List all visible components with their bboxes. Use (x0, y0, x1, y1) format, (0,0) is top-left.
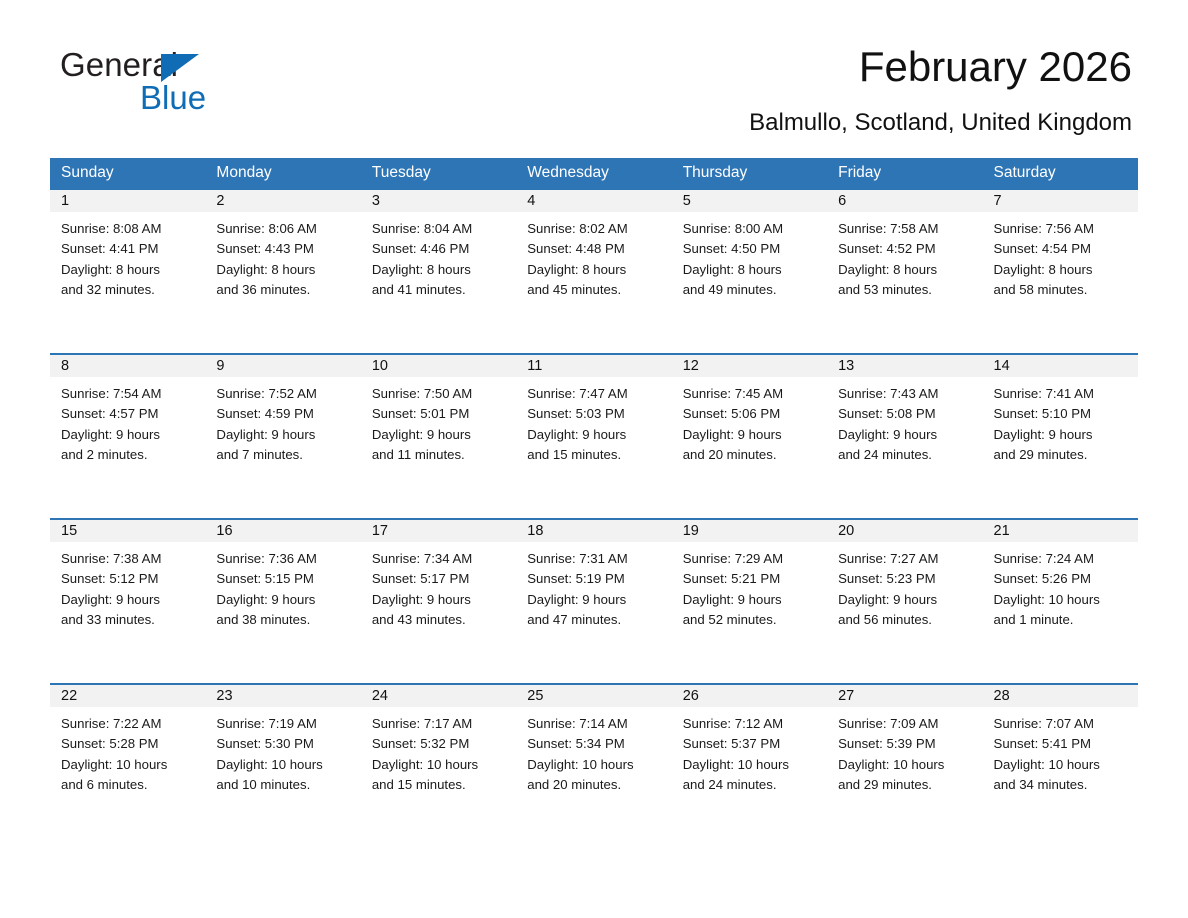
daylight-line2: and 7 minutes. (216, 445, 352, 465)
day-number-band: 5 (672, 190, 827, 212)
day-number: 6 (827, 190, 982, 212)
daylight-line1: Daylight: 10 hours (61, 755, 197, 775)
day-number-band: 13 (827, 355, 982, 377)
daylight-line1: Daylight: 10 hours (216, 755, 352, 775)
day-cell[interactable]: 22 Sunrise: 7:22 AM Sunset: 5:28 PM Dayl… (50, 685, 205, 795)
sunrise-text: Sunrise: 8:00 AM (683, 219, 819, 239)
weekday-header-wednesday: Wednesday (516, 158, 671, 188)
day-cell[interactable]: 23 Sunrise: 7:19 AM Sunset: 5:30 PM Dayl… (205, 685, 360, 795)
weekday-header-monday: Monday (205, 158, 360, 188)
day-cell[interactable]: 28 Sunrise: 7:07 AM Sunset: 5:41 PM Dayl… (983, 685, 1138, 795)
sunset-text: Sunset: 5:37 PM (683, 734, 819, 754)
daylight-line2: and 29 minutes. (994, 445, 1130, 465)
day-number-band: 10 (361, 355, 516, 377)
day-cell[interactable]: 13 Sunrise: 7:43 AM Sunset: 5:08 PM Dayl… (827, 355, 982, 518)
weekday-header-thursday: Thursday (672, 158, 827, 188)
sunrise-text: Sunrise: 7:34 AM (372, 549, 508, 569)
day-details: Sunrise: 7:17 AM Sunset: 5:32 PM Dayligh… (361, 707, 516, 795)
weekday-header-saturday: Saturday (983, 158, 1138, 188)
sunset-text: Sunset: 4:50 PM (683, 239, 819, 259)
day-number: 16 (205, 520, 360, 542)
weekday-header-sunday: Sunday (50, 158, 205, 188)
day-details: Sunrise: 7:50 AM Sunset: 5:01 PM Dayligh… (361, 377, 516, 465)
daylight-line2: and 15 minutes. (372, 775, 508, 795)
sunset-text: Sunset: 4:43 PM (216, 239, 352, 259)
day-number-band: 12 (672, 355, 827, 377)
day-cell[interactable]: 26 Sunrise: 7:12 AM Sunset: 5:37 PM Dayl… (672, 685, 827, 795)
daylight-line2: and 53 minutes. (838, 280, 974, 300)
day-number: 8 (50, 355, 205, 377)
sunset-text: Sunset: 5:34 PM (527, 734, 663, 754)
day-number-band: 17 (361, 520, 516, 542)
logo-triangle-icon (161, 54, 199, 82)
day-details: Sunrise: 7:14 AM Sunset: 5:34 PM Dayligh… (516, 707, 671, 795)
day-number-band: 15 (50, 520, 205, 542)
sunset-text: Sunset: 4:52 PM (838, 239, 974, 259)
day-number-band: 8 (50, 355, 205, 377)
day-cell[interactable]: 18 Sunrise: 7:31 AM Sunset: 5:19 PM Dayl… (516, 520, 671, 683)
daylight-line2: and 58 minutes. (994, 280, 1130, 300)
sunset-text: Sunset: 5:19 PM (527, 569, 663, 589)
day-number: 5 (672, 190, 827, 212)
day-cell[interactable]: 6 Sunrise: 7:58 AM Sunset: 4:52 PM Dayli… (827, 190, 982, 353)
day-number: 22 (50, 685, 205, 707)
daylight-line2: and 24 minutes. (838, 445, 974, 465)
day-number: 23 (205, 685, 360, 707)
day-cell[interactable]: 11 Sunrise: 7:47 AM Sunset: 5:03 PM Dayl… (516, 355, 671, 518)
general-blue-logo[interactable]: General Blue (60, 46, 390, 124)
day-number-band: 1 (50, 190, 205, 212)
day-details: Sunrise: 8:04 AM Sunset: 4:46 PM Dayligh… (361, 212, 516, 300)
day-details: Sunrise: 7:19 AM Sunset: 5:30 PM Dayligh… (205, 707, 360, 795)
calendar-page: General Blue February 2026 Balmullo, Sco… (0, 0, 1188, 918)
day-number-band: 24 (361, 685, 516, 707)
daylight-line1: Daylight: 9 hours (838, 425, 974, 445)
day-number: 9 (205, 355, 360, 377)
day-number: 7 (983, 190, 1138, 212)
sunrise-text: Sunrise: 7:27 AM (838, 549, 974, 569)
day-number: 17 (361, 520, 516, 542)
day-number: 15 (50, 520, 205, 542)
day-details: Sunrise: 7:31 AM Sunset: 5:19 PM Dayligh… (516, 542, 671, 630)
sunset-text: Sunset: 5:06 PM (683, 404, 819, 424)
week-row: 22 Sunrise: 7:22 AM Sunset: 5:28 PM Dayl… (50, 683, 1138, 795)
sunrise-text: Sunrise: 8:02 AM (527, 219, 663, 239)
day-details: Sunrise: 7:45 AM Sunset: 5:06 PM Dayligh… (672, 377, 827, 465)
sunset-text: Sunset: 4:57 PM (61, 404, 197, 424)
day-number-band: 18 (516, 520, 671, 542)
sunrise-text: Sunrise: 7:38 AM (61, 549, 197, 569)
daylight-line1: Daylight: 10 hours (683, 755, 819, 775)
sunset-text: Sunset: 5:08 PM (838, 404, 974, 424)
sunrise-text: Sunrise: 7:43 AM (838, 384, 974, 404)
day-details: Sunrise: 7:34 AM Sunset: 5:17 PM Dayligh… (361, 542, 516, 630)
sunset-text: Sunset: 4:46 PM (372, 239, 508, 259)
day-cell[interactable]: 7 Sunrise: 7:56 AM Sunset: 4:54 PM Dayli… (983, 190, 1138, 353)
day-details: Sunrise: 7:38 AM Sunset: 5:12 PM Dayligh… (50, 542, 205, 630)
sunset-text: Sunset: 4:54 PM (994, 239, 1130, 259)
sunset-text: Sunset: 5:10 PM (994, 404, 1130, 424)
day-details: Sunrise: 7:47 AM Sunset: 5:03 PM Dayligh… (516, 377, 671, 465)
day-details: Sunrise: 7:54 AM Sunset: 4:57 PM Dayligh… (50, 377, 205, 465)
sunrise-text: Sunrise: 7:09 AM (838, 714, 974, 734)
page-header: General Blue February 2026 Balmullo, Sco… (50, 0, 1138, 110)
week-row: 15 Sunrise: 7:38 AM Sunset: 5:12 PM Dayl… (50, 518, 1138, 683)
day-details: Sunrise: 8:00 AM Sunset: 4:50 PM Dayligh… (672, 212, 827, 300)
sunset-text: Sunset: 5:15 PM (216, 569, 352, 589)
daylight-line1: Daylight: 9 hours (838, 590, 974, 610)
daylight-line2: and 34 minutes. (994, 775, 1130, 795)
day-details: Sunrise: 7:58 AM Sunset: 4:52 PM Dayligh… (827, 212, 982, 300)
day-number: 25 (516, 685, 671, 707)
sunset-text: Sunset: 5:12 PM (61, 569, 197, 589)
day-cell[interactable]: 10 Sunrise: 7:50 AM Sunset: 5:01 PM Dayl… (361, 355, 516, 518)
day-number: 12 (672, 355, 827, 377)
day-number: 13 (827, 355, 982, 377)
sunrise-text: Sunrise: 7:45 AM (683, 384, 819, 404)
sunrise-text: Sunrise: 7:31 AM (527, 549, 663, 569)
daylight-line2: and 49 minutes. (683, 280, 819, 300)
day-cell[interactable]: 14 Sunrise: 7:41 AM Sunset: 5:10 PM Dayl… (983, 355, 1138, 518)
day-number-band: 6 (827, 190, 982, 212)
sunrise-text: Sunrise: 8:04 AM (372, 219, 508, 239)
week-row: 8 Sunrise: 7:54 AM Sunset: 4:57 PM Dayli… (50, 353, 1138, 518)
day-details: Sunrise: 7:27 AM Sunset: 5:23 PM Dayligh… (827, 542, 982, 630)
sunset-text: Sunset: 5:28 PM (61, 734, 197, 754)
sunrise-text: Sunrise: 7:14 AM (527, 714, 663, 734)
sunset-text: Sunset: 4:48 PM (527, 239, 663, 259)
day-cell[interactable]: 5 Sunrise: 8:00 AM Sunset: 4:50 PM Dayli… (672, 190, 827, 353)
calendar-table: Sunday Monday Tuesday Wednesday Thursday… (50, 158, 1138, 795)
day-cell[interactable]: 12 Sunrise: 7:45 AM Sunset: 5:06 PM Dayl… (672, 355, 827, 518)
sunrise-text: Sunrise: 7:50 AM (372, 384, 508, 404)
daylight-line2: and 33 minutes. (61, 610, 197, 630)
daylight-line1: Daylight: 9 hours (527, 425, 663, 445)
daylight-line1: Daylight: 8 hours (994, 260, 1130, 280)
day-number-band: 7 (983, 190, 1138, 212)
sunrise-text: Sunrise: 7:19 AM (216, 714, 352, 734)
daylight-line2: and 56 minutes. (838, 610, 974, 630)
daylight-line2: and 38 minutes. (216, 610, 352, 630)
day-details: Sunrise: 8:08 AM Sunset: 4:41 PM Dayligh… (50, 212, 205, 300)
sunset-text: Sunset: 5:39 PM (838, 734, 974, 754)
day-number: 4 (516, 190, 671, 212)
day-cell[interactable]: 1 Sunrise: 8:08 AM Sunset: 4:41 PM Dayli… (50, 190, 205, 353)
day-cell[interactable]: 27 Sunrise: 7:09 AM Sunset: 5:39 PM Dayl… (827, 685, 982, 795)
daylight-line2: and 36 minutes. (216, 280, 352, 300)
sunrise-text: Sunrise: 7:36 AM (216, 549, 352, 569)
daylight-line2: and 24 minutes. (683, 775, 819, 795)
day-details: Sunrise: 8:06 AM Sunset: 4:43 PM Dayligh… (205, 212, 360, 300)
day-number: 11 (516, 355, 671, 377)
day-number-band: 2 (205, 190, 360, 212)
week-row: 1 Sunrise: 8:08 AM Sunset: 4:41 PM Dayli… (50, 188, 1138, 353)
sunset-text: Sunset: 5:01 PM (372, 404, 508, 424)
sunrise-text: Sunrise: 8:06 AM (216, 219, 352, 239)
daylight-line1: Daylight: 8 hours (527, 260, 663, 280)
day-details: Sunrise: 7:36 AM Sunset: 5:15 PM Dayligh… (205, 542, 360, 630)
daylight-line1: Daylight: 9 hours (683, 425, 819, 445)
day-cell[interactable]: 20 Sunrise: 7:27 AM Sunset: 5:23 PM Dayl… (827, 520, 982, 683)
logo-text-blue: Blue (140, 79, 206, 117)
sunrise-text: Sunrise: 7:07 AM (994, 714, 1130, 734)
day-number: 27 (827, 685, 982, 707)
day-number-band: 11 (516, 355, 671, 377)
day-cell[interactable]: 16 Sunrise: 7:36 AM Sunset: 5:15 PM Dayl… (205, 520, 360, 683)
day-number-band: 16 (205, 520, 360, 542)
day-number-band: 26 (672, 685, 827, 707)
day-cell[interactable]: 24 Sunrise: 7:17 AM Sunset: 5:32 PM Dayl… (361, 685, 516, 795)
daylight-line2: and 52 minutes. (683, 610, 819, 630)
daylight-line2: and 6 minutes. (61, 775, 197, 795)
day-details: Sunrise: 7:56 AM Sunset: 4:54 PM Dayligh… (983, 212, 1138, 300)
day-cell[interactable]: 21 Sunrise: 7:24 AM Sunset: 5:26 PM Dayl… (983, 520, 1138, 683)
daylight-line1: Daylight: 9 hours (61, 425, 197, 445)
day-cell[interactable]: 2 Sunrise: 8:06 AM Sunset: 4:43 PM Dayli… (205, 190, 360, 353)
day-number: 19 (672, 520, 827, 542)
sunrise-text: Sunrise: 7:47 AM (527, 384, 663, 404)
sunrise-text: Sunrise: 7:17 AM (372, 714, 508, 734)
sunrise-text: Sunrise: 7:58 AM (838, 219, 974, 239)
sunrise-text: Sunrise: 7:29 AM (683, 549, 819, 569)
day-number-band: 22 (50, 685, 205, 707)
day-number-band: 28 (983, 685, 1138, 707)
day-cell[interactable]: 9 Sunrise: 7:52 AM Sunset: 4:59 PM Dayli… (205, 355, 360, 518)
sunset-text: Sunset: 5:23 PM (838, 569, 974, 589)
day-number: 26 (672, 685, 827, 707)
sunset-text: Sunset: 5:32 PM (372, 734, 508, 754)
day-number: 24 (361, 685, 516, 707)
day-number: 2 (205, 190, 360, 212)
daylight-line1: Daylight: 9 hours (527, 590, 663, 610)
sunset-text: Sunset: 4:59 PM (216, 404, 352, 424)
daylight-line2: and 2 minutes. (61, 445, 197, 465)
daylight-line1: Daylight: 10 hours (527, 755, 663, 775)
day-number: 28 (983, 685, 1138, 707)
sunset-text: Sunset: 4:41 PM (61, 239, 197, 259)
daylight-line1: Daylight: 10 hours (994, 755, 1130, 775)
day-number-band: 3 (361, 190, 516, 212)
day-details: Sunrise: 7:07 AM Sunset: 5:41 PM Dayligh… (983, 707, 1138, 795)
day-details: Sunrise: 7:52 AM Sunset: 4:59 PM Dayligh… (205, 377, 360, 465)
day-number: 3 (361, 190, 516, 212)
sunrise-text: Sunrise: 7:54 AM (61, 384, 197, 404)
daylight-line1: Daylight: 8 hours (838, 260, 974, 280)
sunset-text: Sunset: 5:26 PM (994, 569, 1130, 589)
day-number-band: 23 (205, 685, 360, 707)
day-number-band: 21 (983, 520, 1138, 542)
daylight-line2: and 47 minutes. (527, 610, 663, 630)
sunrise-text: Sunrise: 7:22 AM (61, 714, 197, 734)
day-number-band: 25 (516, 685, 671, 707)
day-number-band: 14 (983, 355, 1138, 377)
day-cell[interactable]: 8 Sunrise: 7:54 AM Sunset: 4:57 PM Dayli… (50, 355, 205, 518)
day-cell[interactable]: 25 Sunrise: 7:14 AM Sunset: 5:34 PM Dayl… (516, 685, 671, 795)
day-details: Sunrise: 7:22 AM Sunset: 5:28 PM Dayligh… (50, 707, 205, 795)
weekday-header-friday: Friday (827, 158, 982, 188)
day-number-band: 27 (827, 685, 982, 707)
day-number-band: 19 (672, 520, 827, 542)
sunrise-text: Sunrise: 8:08 AM (61, 219, 197, 239)
day-number-band: 20 (827, 520, 982, 542)
daylight-line2: and 20 minutes. (683, 445, 819, 465)
day-cell[interactable]: 15 Sunrise: 7:38 AM Sunset: 5:12 PM Dayl… (50, 520, 205, 683)
daylight-line1: Daylight: 9 hours (994, 425, 1130, 445)
sunrise-text: Sunrise: 7:56 AM (994, 219, 1130, 239)
daylight-line1: Daylight: 8 hours (683, 260, 819, 280)
sunset-text: Sunset: 5:21 PM (683, 569, 819, 589)
day-details: Sunrise: 7:43 AM Sunset: 5:08 PM Dayligh… (827, 377, 982, 465)
sunrise-text: Sunrise: 7:52 AM (216, 384, 352, 404)
daylight-line2: and 15 minutes. (527, 445, 663, 465)
daylight-line1: Daylight: 9 hours (61, 590, 197, 610)
day-details: Sunrise: 7:29 AM Sunset: 5:21 PM Dayligh… (672, 542, 827, 630)
daylight-line2: and 20 minutes. (527, 775, 663, 795)
day-details: Sunrise: 7:24 AM Sunset: 5:26 PM Dayligh… (983, 542, 1138, 630)
daylight-line2: and 45 minutes. (527, 280, 663, 300)
day-cell[interactable]: 4 Sunrise: 8:02 AM Sunset: 4:48 PM Dayli… (516, 190, 671, 353)
daylight-line1: Daylight: 9 hours (372, 425, 508, 445)
daylight-line1: Daylight: 8 hours (216, 260, 352, 280)
daylight-line1: Daylight: 10 hours (838, 755, 974, 775)
sunset-text: Sunset: 5:17 PM (372, 569, 508, 589)
daylight-line1: Daylight: 10 hours (372, 755, 508, 775)
sunrise-text: Sunrise: 7:41 AM (994, 384, 1130, 404)
day-number: 21 (983, 520, 1138, 542)
sunrise-text: Sunrise: 7:24 AM (994, 549, 1130, 569)
daylight-line1: Daylight: 9 hours (216, 590, 352, 610)
daylight-line2: and 29 minutes. (838, 775, 974, 795)
day-number: 20 (827, 520, 982, 542)
daylight-line2: and 10 minutes. (216, 775, 352, 795)
sunset-text: Sunset: 5:41 PM (994, 734, 1130, 754)
daylight-line1: Daylight: 8 hours (372, 260, 508, 280)
daylight-line1: Daylight: 10 hours (994, 590, 1130, 610)
daylight-line1: Daylight: 9 hours (683, 590, 819, 610)
daylight-line1: Daylight: 8 hours (61, 260, 197, 280)
day-cell[interactable]: 17 Sunrise: 7:34 AM Sunset: 5:17 PM Dayl… (361, 520, 516, 683)
sunrise-text: Sunrise: 7:12 AM (683, 714, 819, 734)
daylight-line1: Daylight: 9 hours (372, 590, 508, 610)
daylight-line2: and 11 minutes. (372, 445, 508, 465)
weekday-header-row: Sunday Monday Tuesday Wednesday Thursday… (50, 158, 1138, 188)
day-details: Sunrise: 8:02 AM Sunset: 4:48 PM Dayligh… (516, 212, 671, 300)
day-number: 18 (516, 520, 671, 542)
daylight-line2: and 32 minutes. (61, 280, 197, 300)
day-number: 10 (361, 355, 516, 377)
daylight-line1: Daylight: 9 hours (216, 425, 352, 445)
day-cell[interactable]: 3 Sunrise: 8:04 AM Sunset: 4:46 PM Dayli… (361, 190, 516, 353)
day-number: 14 (983, 355, 1138, 377)
day-cell[interactable]: 19 Sunrise: 7:29 AM Sunset: 5:21 PM Dayl… (672, 520, 827, 683)
sunset-text: Sunset: 5:03 PM (527, 404, 663, 424)
day-number-band: 4 (516, 190, 671, 212)
day-number: 1 (50, 190, 205, 212)
day-number-band: 9 (205, 355, 360, 377)
sunset-text: Sunset: 5:30 PM (216, 734, 352, 754)
day-details: Sunrise: 7:41 AM Sunset: 5:10 PM Dayligh… (983, 377, 1138, 465)
daylight-line2: and 43 minutes. (372, 610, 508, 630)
daylight-line2: and 41 minutes. (372, 280, 508, 300)
day-details: Sunrise: 7:12 AM Sunset: 5:37 PM Dayligh… (672, 707, 827, 795)
day-details: Sunrise: 7:09 AM Sunset: 5:39 PM Dayligh… (827, 707, 982, 795)
daylight-line2: and 1 minute. (994, 610, 1130, 630)
weekday-header-tuesday: Tuesday (361, 158, 516, 188)
